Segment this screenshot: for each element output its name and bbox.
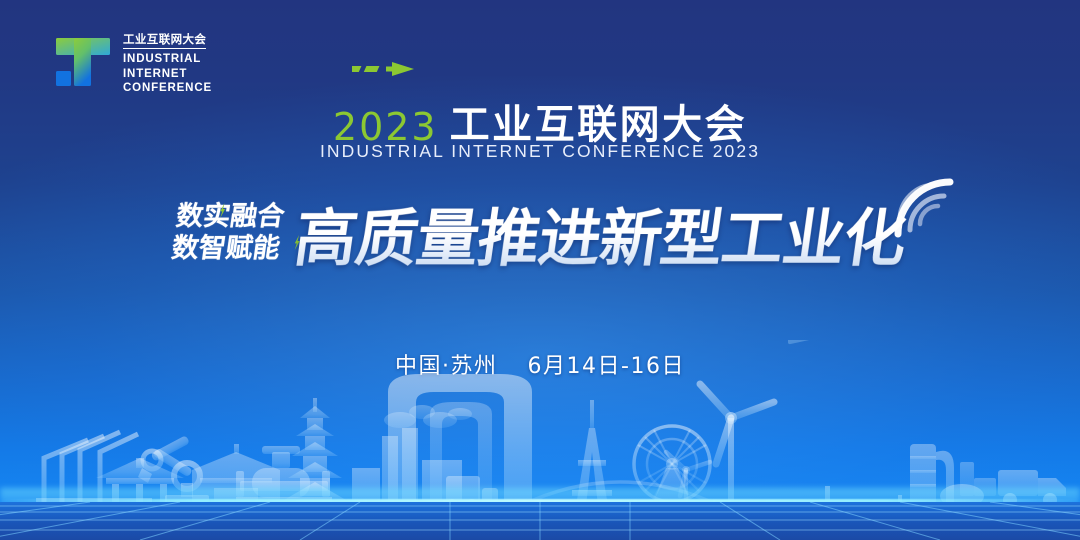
slogan-small-line-1: 数实融合: [174, 201, 286, 233]
slogan-secondary: 数实融合 数智赋能: [169, 201, 286, 265]
solar-panel-icon: [788, 340, 874, 506]
logo-mark-icon: [52, 31, 114, 93]
logo-cn-name: 工业互联网大会: [123, 32, 206, 49]
forward-arrow-icon: [352, 58, 430, 80]
conference-poster: 工业互联网大会 INDUSTRIAL INTERNET CONFERENCE 2…: [0, 0, 1080, 540]
logo-en-line-1: INDUSTRIAL: [123, 52, 212, 67]
slogan-primary: 高质量推进新型工业化: [290, 188, 913, 278]
logo-text-block: 工业互联网大会 INDUSTRIAL INTERNET CONFERENCE: [123, 28, 212, 96]
slogan-small-line-2: 数智赋能: [169, 233, 281, 265]
perspective-grid: [0, 502, 1080, 540]
logo-en-line-2: INTERNET: [123, 67, 212, 82]
wifi-signal-icon: [884, 168, 958, 242]
page-subtitle: INDUSTRIAL INTERNET CONFERENCE 2023: [0, 141, 1080, 162]
conference-logo[interactable]: 工业互联网大会 INDUSTRIAL INTERNET CONFERENCE: [52, 28, 212, 96]
